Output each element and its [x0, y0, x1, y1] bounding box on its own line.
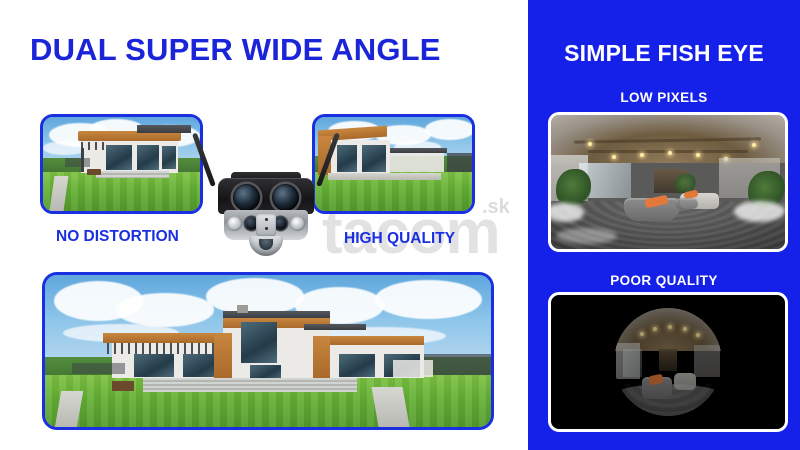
photo-frame-top-left [40, 114, 203, 214]
house-roof-slab [304, 324, 366, 330]
house-roof-slab [137, 125, 190, 133]
house-window [106, 145, 133, 169]
cloud [375, 280, 482, 320]
house-window [137, 145, 159, 169]
promo-banner: DUAL SUPER WIDE ANGLE tacom .sk [0, 0, 800, 450]
house-wood-column [313, 336, 331, 379]
entry-steps [143, 378, 357, 392]
watermark-tld: .sk [482, 196, 510, 219]
pergola [81, 142, 108, 150]
floor-highlight [556, 228, 617, 244]
photo-frame-fisheye-top [548, 112, 788, 252]
low-light-overlay [614, 308, 722, 416]
photo-frame-bottom-wide [42, 272, 494, 430]
outbuilding [393, 360, 433, 377]
camera-led-left [227, 216, 242, 231]
camera-ptz-dome [249, 236, 283, 256]
house-window-tall [241, 322, 277, 363]
right-panel-title: SIMPLE FISH EYE [528, 40, 800, 67]
fisheye-circular-image [614, 308, 722, 416]
camera-lens-right [272, 184, 299, 211]
house-scene-panorama [45, 275, 491, 427]
photo-frame-fisheye-bottom [548, 292, 788, 432]
label-no-distortion: NO DISTORTION [56, 228, 179, 246]
house-window [337, 145, 357, 171]
house-scene-left [43, 117, 200, 211]
armchair [675, 198, 698, 209]
garden-bench [87, 169, 101, 176]
label-poor-quality: POOR QUALITY [528, 273, 800, 288]
fence [72, 363, 126, 374]
camera-led-right [290, 216, 305, 231]
garden-bench [112, 381, 134, 390]
fence [65, 158, 90, 166]
house-wing [390, 151, 443, 172]
page-title: DUAL SUPER WIDE ANGLE [30, 32, 441, 68]
driveway [328, 173, 441, 180]
fence [424, 354, 491, 375]
house-window [339, 354, 375, 377]
house-wood-column [214, 333, 232, 379]
camera-indicator-dot [265, 218, 268, 221]
camera-lens-head [218, 178, 314, 214]
cloud [116, 293, 214, 326]
fisheye-interior-scene [551, 115, 785, 249]
ceiling-light [612, 155, 616, 159]
garden-path [372, 387, 410, 427]
fence [447, 153, 472, 172]
dual-wide-angle-panel: DUAL SUPER WIDE ANGLE tacom .sk [0, 0, 528, 450]
house-scene-right [315, 117, 472, 211]
entry-steps [96, 171, 168, 179]
house-window [162, 146, 176, 169]
photo-frame-top-right [312, 114, 475, 214]
house-window [362, 145, 386, 171]
cloud [206, 278, 304, 314]
camera-sensor-plate [256, 214, 276, 236]
fisheye-interior-scene-dark [614, 308, 722, 416]
camera-indicator-dot [265, 227, 268, 230]
floor-highlight [734, 201, 785, 222]
cloud [425, 119, 472, 140]
label-high-quality: HIGH QUALITY [344, 230, 455, 248]
house-roof-slab [390, 148, 447, 153]
label-low-pixels: LOW PIXELS [528, 90, 800, 105]
ceiling-light [640, 153, 644, 157]
camera-lens-left [233, 184, 260, 211]
chimney [237, 305, 248, 313]
security-camera-device [205, 128, 327, 258]
house-window [134, 354, 174, 377]
house-roof-wood [103, 333, 228, 344]
ceiling-light [696, 153, 700, 157]
pergola [107, 343, 214, 354]
